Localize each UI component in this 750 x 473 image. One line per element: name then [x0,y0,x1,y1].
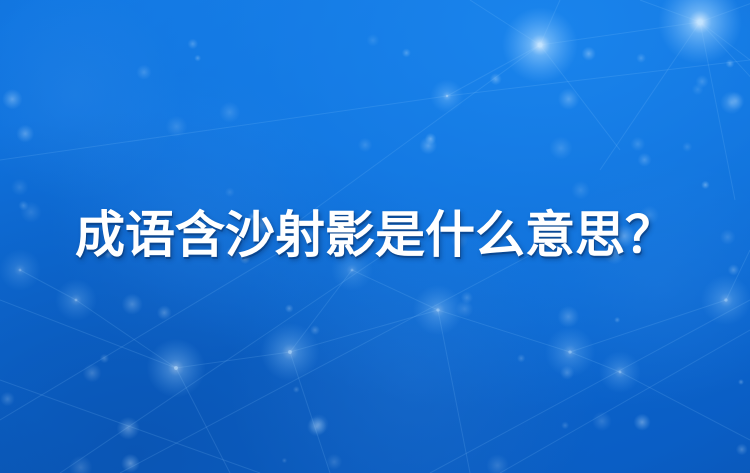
title-container: 成语含沙射影是什么意思？ [0,0,750,473]
page-title: 成语含沙射影是什么意思？ [75,210,675,260]
banner-canvas: 成语含沙射影是什么意思？ [0,0,750,473]
